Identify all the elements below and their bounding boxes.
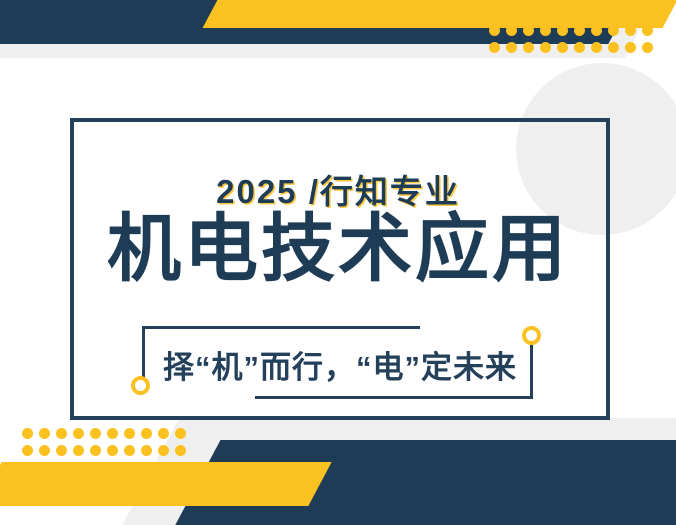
dot	[642, 8, 653, 19]
dot	[56, 445, 67, 456]
dot	[608, 8, 619, 19]
dot	[574, 42, 585, 53]
dot-grid-top-right	[489, 0, 659, 59]
dot	[625, 8, 636, 19]
dot	[625, 42, 636, 53]
dot	[608, 42, 619, 53]
dot	[107, 445, 118, 456]
dot	[56, 428, 67, 439]
dot	[557, 25, 568, 36]
dot	[107, 428, 118, 439]
dot	[540, 42, 551, 53]
dot	[625, 0, 636, 2]
dot	[158, 428, 169, 439]
dot	[158, 445, 169, 456]
dot	[489, 0, 500, 2]
dot	[608, 25, 619, 36]
dot	[506, 8, 517, 19]
dot	[39, 428, 50, 439]
dot	[642, 42, 653, 53]
dot	[141, 428, 152, 439]
dot	[642, 25, 653, 36]
dot	[625, 25, 636, 36]
dot	[574, 8, 585, 19]
dot	[506, 42, 517, 53]
dot	[489, 42, 500, 53]
dot	[22, 428, 33, 439]
dot	[39, 445, 50, 456]
dot	[540, 25, 551, 36]
dot	[557, 42, 568, 53]
dot	[124, 428, 135, 439]
dot	[591, 0, 602, 2]
dot	[591, 42, 602, 53]
dot	[90, 428, 101, 439]
dot	[124, 445, 135, 456]
dot	[540, 8, 551, 19]
dot	[175, 445, 186, 456]
dot	[557, 8, 568, 19]
dot	[591, 25, 602, 36]
dot	[523, 25, 534, 36]
dot	[175, 428, 186, 439]
dot	[574, 25, 585, 36]
dot	[591, 8, 602, 19]
dot	[489, 8, 500, 19]
dot	[506, 0, 517, 2]
dot	[141, 445, 152, 456]
bottom-right-yellow-parallelogram	[0, 462, 332, 506]
dot	[22, 445, 33, 456]
dot	[574, 0, 585, 2]
dot	[489, 25, 500, 36]
dot	[540, 0, 551, 2]
dot	[557, 0, 568, 2]
dot	[73, 428, 84, 439]
dot	[523, 42, 534, 53]
dot	[523, 0, 534, 2]
content-frame	[70, 118, 610, 420]
dot	[523, 8, 534, 19]
dot	[90, 445, 101, 456]
dot	[642, 0, 653, 2]
dot	[73, 445, 84, 456]
dot	[506, 25, 517, 36]
poster-canvas: 2025 /行知专业 机电技术应用 择“机”而行，“电”定未来	[0, 0, 676, 525]
dot	[608, 0, 619, 2]
